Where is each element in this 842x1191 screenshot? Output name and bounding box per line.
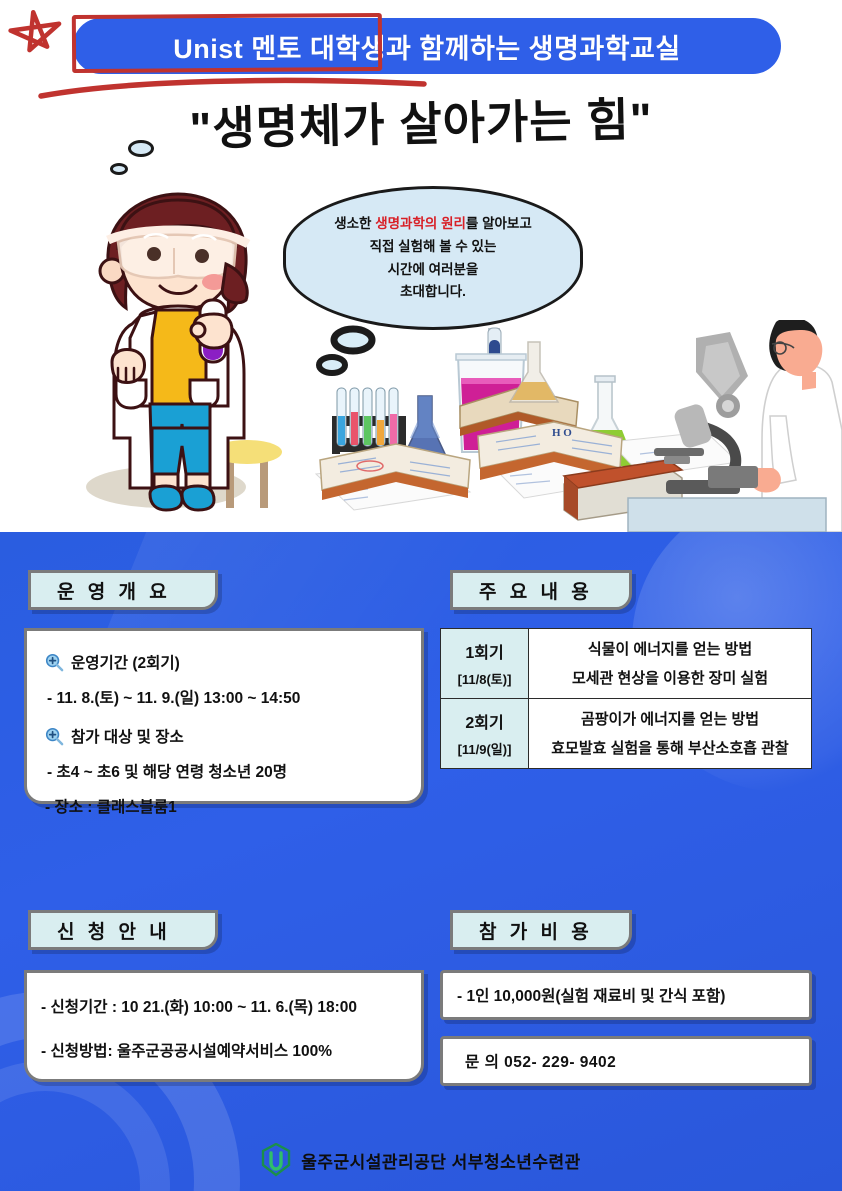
- lab-equipment-illustration: H O: [310, 320, 842, 532]
- table-cell-topics-2: 곰팡이가 에너지를 얻는 방법 효모발효 실험을 통해 부산소호흡 관찰: [529, 699, 812, 769]
- overview-item-ages-label: - 초4 ~ 초6 및 해당 연령 청소년 20명: [47, 760, 287, 782]
- bubble-line-1: 생소한 생명과학의 원리를 알아보고: [334, 216, 532, 232]
- section-header-content-label: 주 요 내 용: [479, 577, 593, 604]
- red-marker-box: [72, 13, 382, 73]
- bubble-highlight: 생명과학의 원리: [375, 216, 466, 231]
- session-2-topic-1: 곰팡이가 에너지를 얻는 방법: [539, 712, 801, 727]
- magnifier-plus-icon: [45, 727, 64, 746]
- contact-phone-label: 문 의 052- 229- 9402: [465, 1050, 616, 1072]
- overview-item-period-label: 운영기간 (2회기): [71, 651, 180, 673]
- overview-item-dates: - 11. 8.(토) ~ 11. 9.(일) 13:00 ~ 14:50: [45, 686, 403, 708]
- apply-box: - 신청기간 : 10 21.(화) 10:00 ~ 11. 6.(목) 18:…: [24, 970, 424, 1082]
- magnifier-plus-icon: [45, 653, 64, 672]
- speech-bubble-tail-large: [128, 140, 154, 157]
- speech-bubble-tail-small: [110, 163, 128, 175]
- header-illustration-area: Unist 멘토 대학생과 함께하는 생명과학교실 "생명체가 살아가는 힘" …: [0, 0, 842, 532]
- fee-amount-label: - 1인 10,000원(실험 재료비 및 간식 포함): [457, 984, 725, 1006]
- footer: 울주군시설관리공단 서부청소년수련관: [0, 1143, 842, 1177]
- session-2-topic-2: 효모발효 실험을 통해 부산소호흡 관찰: [539, 741, 801, 756]
- apply-period-label: - 신청기간 : 10 21.(화) 10:00 ~ 11. 6.(목) 18:…: [41, 995, 357, 1017]
- session-2-label: 2회기: [443, 709, 526, 733]
- shield-u-logo-icon: [261, 1143, 291, 1177]
- table-cell-session-1: 1회기 [11/8(토)]: [441, 629, 529, 699]
- star-doodle-icon: [6, 8, 68, 70]
- overview-item-place-label: - 장소 : 클래스블룸1: [45, 795, 177, 817]
- contact-box: 문 의 052- 229- 9402: [440, 1036, 812, 1086]
- overview-item-ages: - 초4 ~ 초6 및 해당 연령 청소년 20명: [45, 760, 403, 782]
- session-1-label: 1회기: [443, 639, 526, 663]
- poster-root: Unist 멘토 대학생과 함께하는 생명과학교실 "생명체가 살아가는 힘" …: [0, 0, 842, 1191]
- section-header-overview: 운 영 개 요: [28, 570, 218, 610]
- overview-item-target: 참가 대상 및 장소: [45, 725, 403, 747]
- svg-text:H O: H O: [552, 427, 572, 439]
- speech-bubble: 생소한 생명과학의 원리를 알아보고 직접 실험해 볼 수 있는 시간에 여러분…: [283, 186, 583, 330]
- section-header-fee-label: 참 가 비 용: [479, 917, 593, 944]
- section-header-content: 주 요 내 용: [450, 570, 632, 610]
- footer-organization-label: 울주군시설관리공단 서부청소년수련관: [301, 1148, 581, 1173]
- fee-box: - 1인 10,000원(실험 재료비 및 간식 포함): [440, 970, 812, 1020]
- session-1-topic-2: 모세관 현상을 이용한 장미 실험: [539, 671, 801, 686]
- speech-bubble-text: 생소한 생명과학의 원리를 알아보고 직접 실험해 볼 수 있는 시간에 여러분…: [283, 186, 583, 330]
- apply-method: - 신청방법: 울주군공공시설예약서비스 100%: [41, 1039, 407, 1061]
- table-cell-topics-1: 식물이 에너지를 얻는 방법 모세관 현상을 이용한 장미 실험: [529, 629, 812, 699]
- table-row: 2회기 [11/9(일)] 곰팡이가 에너지를 얻는 방법 효모발효 실험을 통…: [441, 699, 812, 769]
- bubble-line-3: 시간에 여러분을: [388, 262, 479, 278]
- section-header-fee: 참 가 비 용: [450, 910, 632, 950]
- overview-item-place: - 장소 : 클래스블룸1: [45, 795, 403, 817]
- section-header-apply-label: 신 청 안 내: [57, 917, 171, 944]
- section-header-apply: 신 청 안 내: [28, 910, 218, 950]
- bubble-line-4: 초대합니다.: [400, 284, 466, 300]
- table-row: 1회기 [11/8(토)] 식물이 에너지를 얻는 방법 모세관 현상을 이용한…: [441, 629, 812, 699]
- session-1-topic-1: 식물이 에너지를 얻는 방법: [539, 642, 801, 657]
- session-2-date: [11/9(일)]: [443, 739, 526, 758]
- apply-method-label: - 신청방법: 울주군공공시설예약서비스 100%: [41, 1039, 332, 1061]
- overview-box: 운영기간 (2회기) - 11. 8.(토) ~ 11. 9.(일) 13:00…: [24, 628, 424, 804]
- session-1-date: [11/8(토)]: [443, 669, 526, 688]
- overview-item-dates-label: - 11. 8.(토) ~ 11. 9.(일) 13:00 ~ 14:50: [47, 686, 300, 708]
- table-cell-session-2: 2회기 [11/9(일)]: [441, 699, 529, 769]
- girl-scientist-illustration: [78, 188, 278, 518]
- overview-item-period: 운영기간 (2회기): [45, 651, 403, 673]
- curriculum-table: 1회기 [11/8(토)] 식물이 에너지를 얻는 방법 모세관 현상을 이용한…: [440, 628, 812, 769]
- bubble-line-2: 직접 실험해 볼 수 있는: [370, 239, 497, 255]
- overview-item-target-label: 참가 대상 및 장소: [71, 725, 184, 747]
- section-header-overview-label: 운 영 개 요: [57, 577, 171, 604]
- info-section: 운 영 개 요 운영기간 (2회기) - 11. 8.(토) ~ 11. 9.(…: [0, 532, 842, 1191]
- apply-period: - 신청기간 : 10 21.(화) 10:00 ~ 11. 6.(목) 18:…: [41, 995, 407, 1017]
